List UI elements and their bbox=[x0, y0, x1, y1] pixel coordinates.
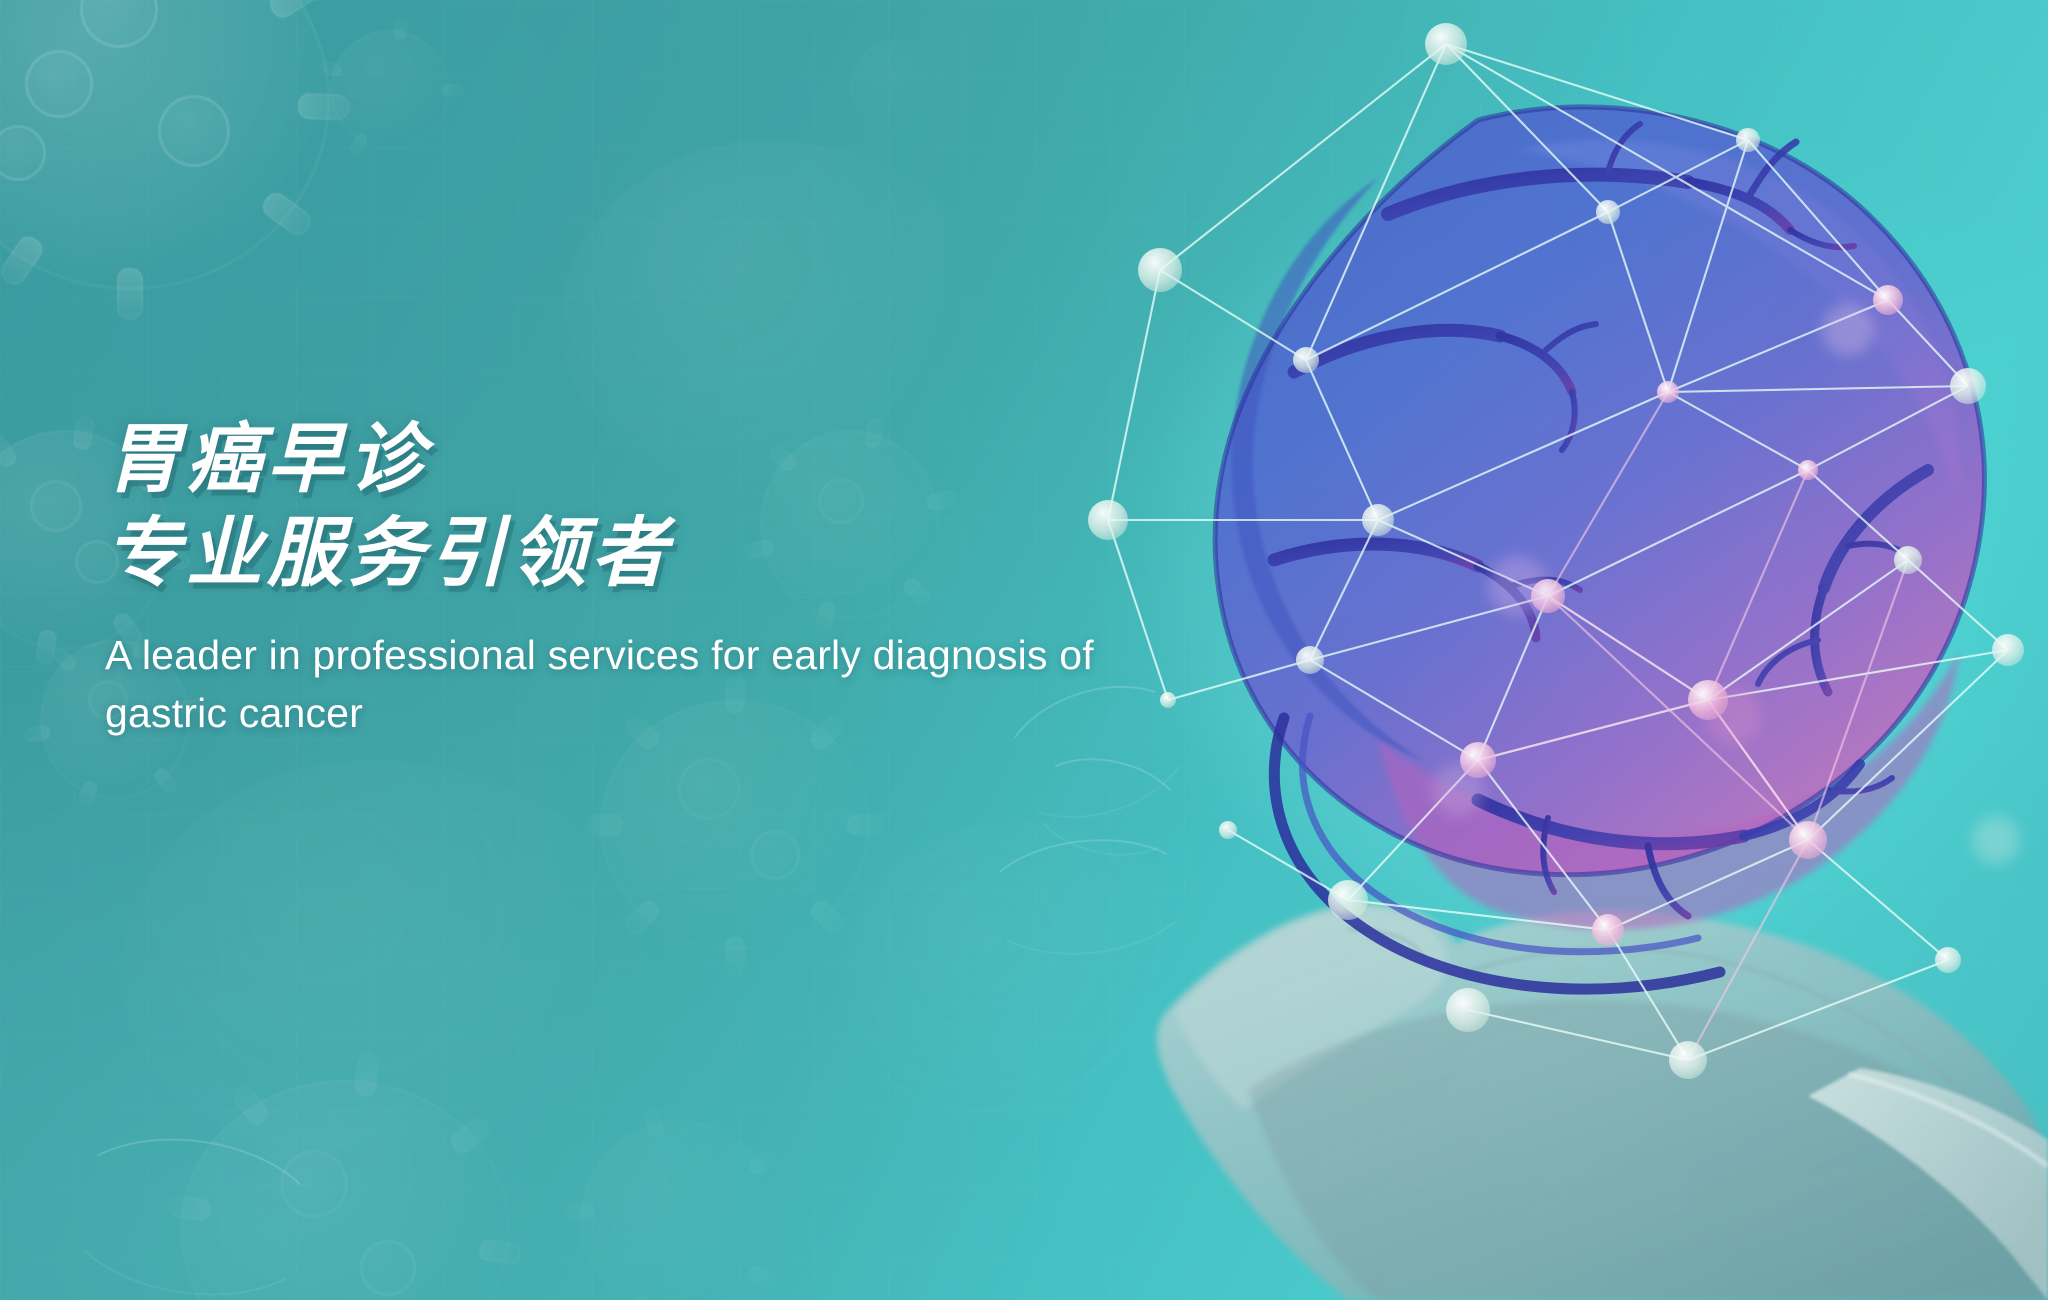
open-hand-illustration bbox=[1157, 904, 2048, 1300]
virus-icon bbox=[0, 0, 330, 290]
headline-line-1: 胃癌早诊 bbox=[105, 415, 1105, 505]
headline-line-2: 专业服务引领者 bbox=[105, 509, 1105, 599]
banner-root: 胃癌早诊 专业服务引领者 A leader in professional se… bbox=[0, 0, 2048, 1300]
virus-icon bbox=[850, 40, 940, 130]
virus-icon bbox=[180, 1080, 510, 1300]
subtitle-text: A leader in professional services for ea… bbox=[105, 626, 1105, 742]
banner-copy: 胃癌早诊 专业服务引领者 A leader in professional se… bbox=[105, 415, 1105, 742]
wisp-decoration bbox=[51, 1122, 334, 1300]
stomach-network-artwork bbox=[1048, 0, 2048, 1300]
virus-icon bbox=[580, 1120, 780, 1300]
virus-icon bbox=[330, 30, 450, 150]
cell-blob-decoration bbox=[120, 760, 640, 1180]
